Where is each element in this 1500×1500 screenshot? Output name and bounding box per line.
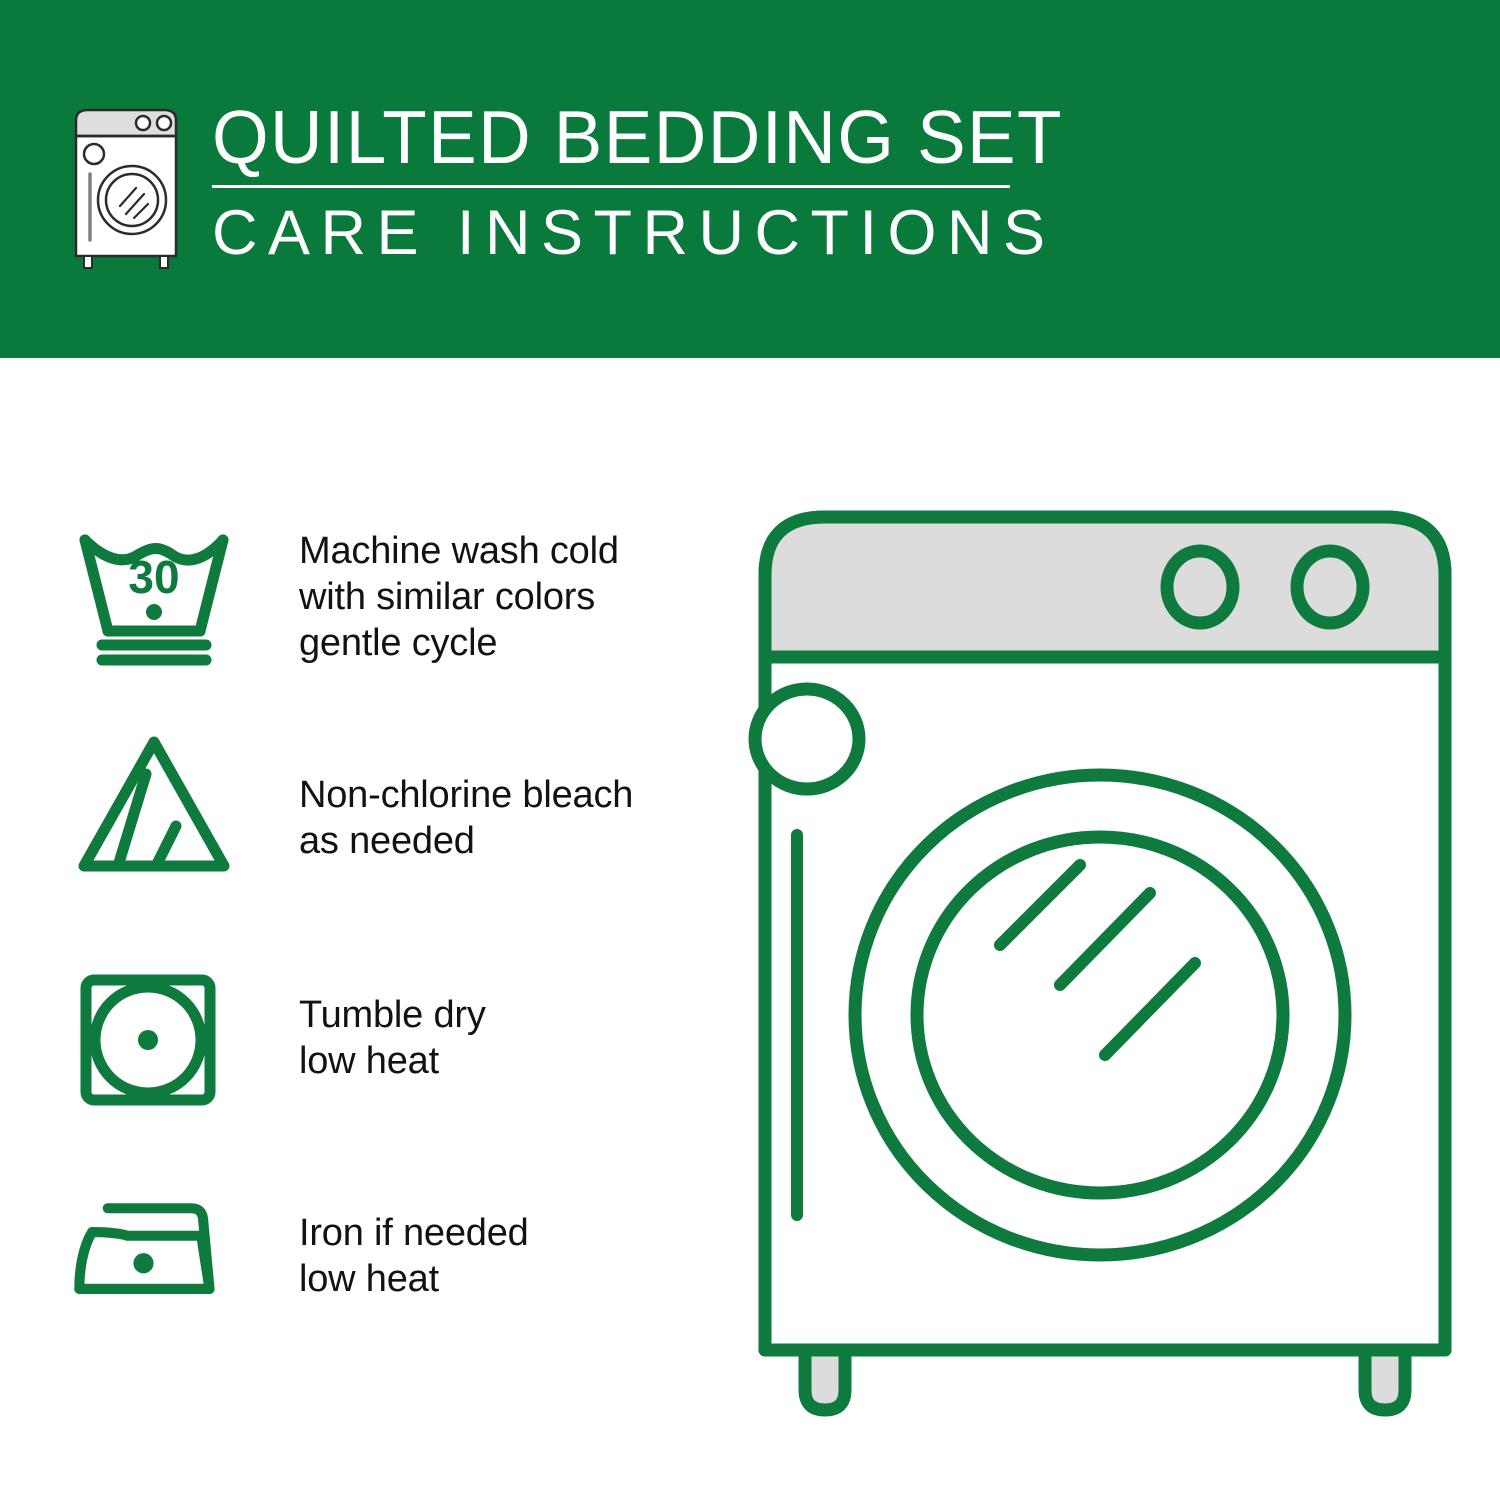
iron-low-heat-icon xyxy=(72,1190,237,1320)
care-item-bleach: Non-chlorine bleach as needed xyxy=(72,730,712,880)
care-label-line: Machine wash cold xyxy=(299,528,619,574)
page-title: QUILTED BEDDING SET xyxy=(212,95,998,179)
non-chlorine-bleach-triangle-icon xyxy=(72,730,237,880)
care-label-line: as needed xyxy=(299,818,633,864)
page-header: QUILTED BEDDING SET CARE INSTRUCTIONS xyxy=(0,0,1500,358)
care-item-tumble-dry: Tumble dry low heat xyxy=(72,968,712,1113)
care-instruction-list: 30 Machine wash cold with similar colors… xyxy=(0,358,740,1500)
care-item-label: Machine wash cold with similar colors ge… xyxy=(237,524,619,666)
care-label-line: low heat xyxy=(299,1038,486,1084)
machine-dispenser-circle xyxy=(755,689,859,789)
wash-temperature-value: 30 xyxy=(128,551,179,603)
machine-door-inner xyxy=(917,837,1283,1193)
machine-knob xyxy=(1167,551,1233,623)
care-label-line: Non-chlorine bleach xyxy=(299,772,633,818)
care-label-line: Tumble dry xyxy=(299,992,486,1038)
machine-knob xyxy=(1297,551,1363,623)
washing-machine-icon xyxy=(62,100,202,270)
care-label-line: with similar colors xyxy=(299,574,619,620)
care-label-line: gentle cycle xyxy=(299,620,619,666)
care-label-line: Iron if needed xyxy=(299,1210,529,1256)
title-divider xyxy=(212,185,1010,188)
care-item-label: Tumble dry low heat xyxy=(237,968,486,1084)
wash-tub-30-gentle-icon: 30 xyxy=(72,524,237,669)
care-item-machine-wash: 30 Machine wash cold with similar colors… xyxy=(72,524,712,669)
tumble-dry-low-icon xyxy=(72,968,237,1113)
care-item-label: Non-chlorine bleach as needed xyxy=(237,730,633,864)
header-text-block: QUILTED BEDDING SET CARE INSTRUCTIONS xyxy=(212,95,1022,268)
care-item-iron: Iron if needed low heat xyxy=(72,1190,712,1320)
care-item-label: Iron if needed low heat xyxy=(237,1190,529,1302)
care-label-line: low heat xyxy=(299,1256,529,1302)
care-instructions-page: QUILTED BEDDING SET CARE INSTRUCTIONS xyxy=(0,0,1500,1500)
page-subtitle: CARE INSTRUCTIONS xyxy=(212,198,1022,268)
front-load-washing-machine-illustration xyxy=(745,495,1465,1435)
